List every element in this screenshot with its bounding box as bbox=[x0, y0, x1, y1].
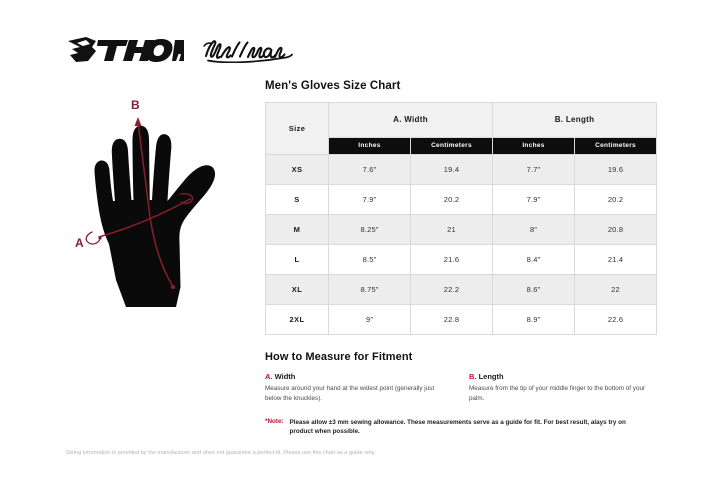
how-to-length-text: Measure from the tip of your middle fing… bbox=[469, 384, 656, 404]
cell-width-centimeters: 22.8 bbox=[411, 305, 493, 335]
cell-length-inches: 8.9” bbox=[493, 305, 575, 335]
cell-width-centimeters: 21 bbox=[411, 215, 493, 245]
cell-width-inches: 8.5” bbox=[329, 245, 411, 275]
cell-length-centimeters: 21.4 bbox=[575, 245, 657, 275]
table-row: 2XL 9” 22.8 8.9” 22.6 bbox=[266, 305, 657, 335]
cell-width-centimeters: 19.4 bbox=[411, 155, 493, 185]
header-width-centimeters: Centimeters bbox=[411, 137, 493, 154]
cell-length-centimeters: 19.6 bbox=[575, 155, 657, 185]
cell-length-centimeters: 22 bbox=[575, 275, 657, 305]
thor-logo bbox=[66, 35, 184, 70]
cell-width-inches: 8.25” bbox=[329, 215, 411, 245]
note-block: *Note: Please allow ±3 mm sewing allowan… bbox=[265, 418, 657, 438]
how-to-width-heading: A. Width bbox=[265, 372, 452, 381]
width-name: Width bbox=[275, 372, 296, 381]
cell-width-centimeters: 20.2 bbox=[411, 185, 493, 215]
length-arrowhead-top bbox=[135, 117, 142, 126]
cell-size: S bbox=[266, 185, 329, 215]
table-row: M 8.25” 21 8” 20.8 bbox=[266, 215, 657, 245]
cell-length-inches: 7.7” bbox=[493, 155, 575, 185]
how-to-measure-section: How to Measure for Fitment A. Width Meas… bbox=[265, 351, 657, 437]
label-a: A bbox=[75, 236, 84, 250]
cell-length-inches: 7.9” bbox=[493, 185, 575, 215]
length-name: Length bbox=[479, 372, 504, 381]
cell-width-inches: 9” bbox=[329, 305, 411, 335]
cell-width-inches: 7.9” bbox=[329, 185, 411, 215]
cell-width-centimeters: 22.2 bbox=[411, 275, 493, 305]
cell-length-inches: 8.6” bbox=[493, 275, 575, 305]
length-marker: B. bbox=[469, 372, 477, 381]
cell-size: XL bbox=[266, 275, 329, 305]
cell-width-inches: 8.75” bbox=[329, 275, 411, 305]
size-chart-table: Size A. Width B. Length Inches Centimete… bbox=[265, 102, 657, 335]
header-group-width: A. Width bbox=[329, 103, 493, 138]
cell-length-centimeters: 20.2 bbox=[575, 185, 657, 215]
cell-size: L bbox=[266, 245, 329, 275]
footer-disclaimer: Sizing information is provided by the ma… bbox=[66, 449, 396, 459]
page-title: Men's Gloves Size Chart bbox=[265, 80, 657, 92]
length-arrow-dot bbox=[171, 285, 175, 289]
cell-length-inches: 8.4” bbox=[493, 245, 575, 275]
how-to-width-text: Measure around your hand at the widest p… bbox=[265, 384, 452, 404]
cell-length-centimeters: 20.8 bbox=[575, 215, 657, 245]
brand-logo-row bbox=[66, 30, 294, 74]
table-row: XS 7.6” 19.4 7.7” 19.6 bbox=[266, 155, 657, 185]
cell-size: M bbox=[266, 215, 329, 245]
header-size: Size bbox=[266, 103, 329, 155]
label-b: B bbox=[131, 98, 140, 112]
note-label: *Note: bbox=[265, 418, 284, 425]
note-text: Please allow ±3 mm sewing allowance. The… bbox=[290, 418, 638, 438]
size-chart-page: B A Men's Gloves Size Chart Size A. Widt… bbox=[0, 0, 720, 492]
how-to-measure-title: How to Measure for Fitment bbox=[265, 351, 657, 363]
cell-length-centimeters: 22.6 bbox=[575, 305, 657, 335]
header-row-groups: Size A. Width B. Length bbox=[266, 103, 657, 138]
how-to-width-column: A. Width Measure around your hand at the… bbox=[265, 372, 452, 404]
width-arrowhead-left bbox=[86, 232, 99, 244]
header-group-length: B. Length bbox=[493, 103, 657, 138]
cell-size: 2XL bbox=[266, 305, 329, 335]
how-to-length-column: B. Length Measure from the tip of your m… bbox=[469, 372, 656, 404]
how-to-length-heading: B. Length bbox=[469, 372, 656, 381]
hand-measurement-diagram: B A bbox=[68, 92, 263, 317]
header-width-inches: Inches bbox=[329, 137, 411, 154]
header-length-centimeters: Centimeters bbox=[575, 137, 657, 154]
width-arrow-dot bbox=[98, 236, 101, 239]
table-body: XS 7.6” 19.4 7.7” 19.6 S 7.9” 20.2 7.9” … bbox=[266, 155, 657, 335]
header-length-inches: Inches bbox=[493, 137, 575, 154]
table-row: S 7.9” 20.2 7.9” 20.2 bbox=[266, 185, 657, 215]
table-row: L 8.5” 21.6 8.4” 21.4 bbox=[266, 245, 657, 275]
chart-content: Men's Gloves Size Chart Size A. Width B.… bbox=[265, 80, 657, 437]
cell-width-centimeters: 21.6 bbox=[411, 245, 493, 275]
cell-size: XS bbox=[266, 155, 329, 185]
hallman-logo bbox=[202, 37, 294, 68]
cell-width-inches: 7.6” bbox=[329, 155, 411, 185]
how-to-measure-columns: A. Width Measure around your hand at the… bbox=[265, 372, 657, 404]
table-header: Size A. Width B. Length Inches Centimete… bbox=[266, 103, 657, 155]
width-marker: A. bbox=[265, 372, 273, 381]
cell-length-inches: 8” bbox=[493, 215, 575, 245]
table-row: XL 8.75” 22.2 8.6” 22 bbox=[266, 275, 657, 305]
